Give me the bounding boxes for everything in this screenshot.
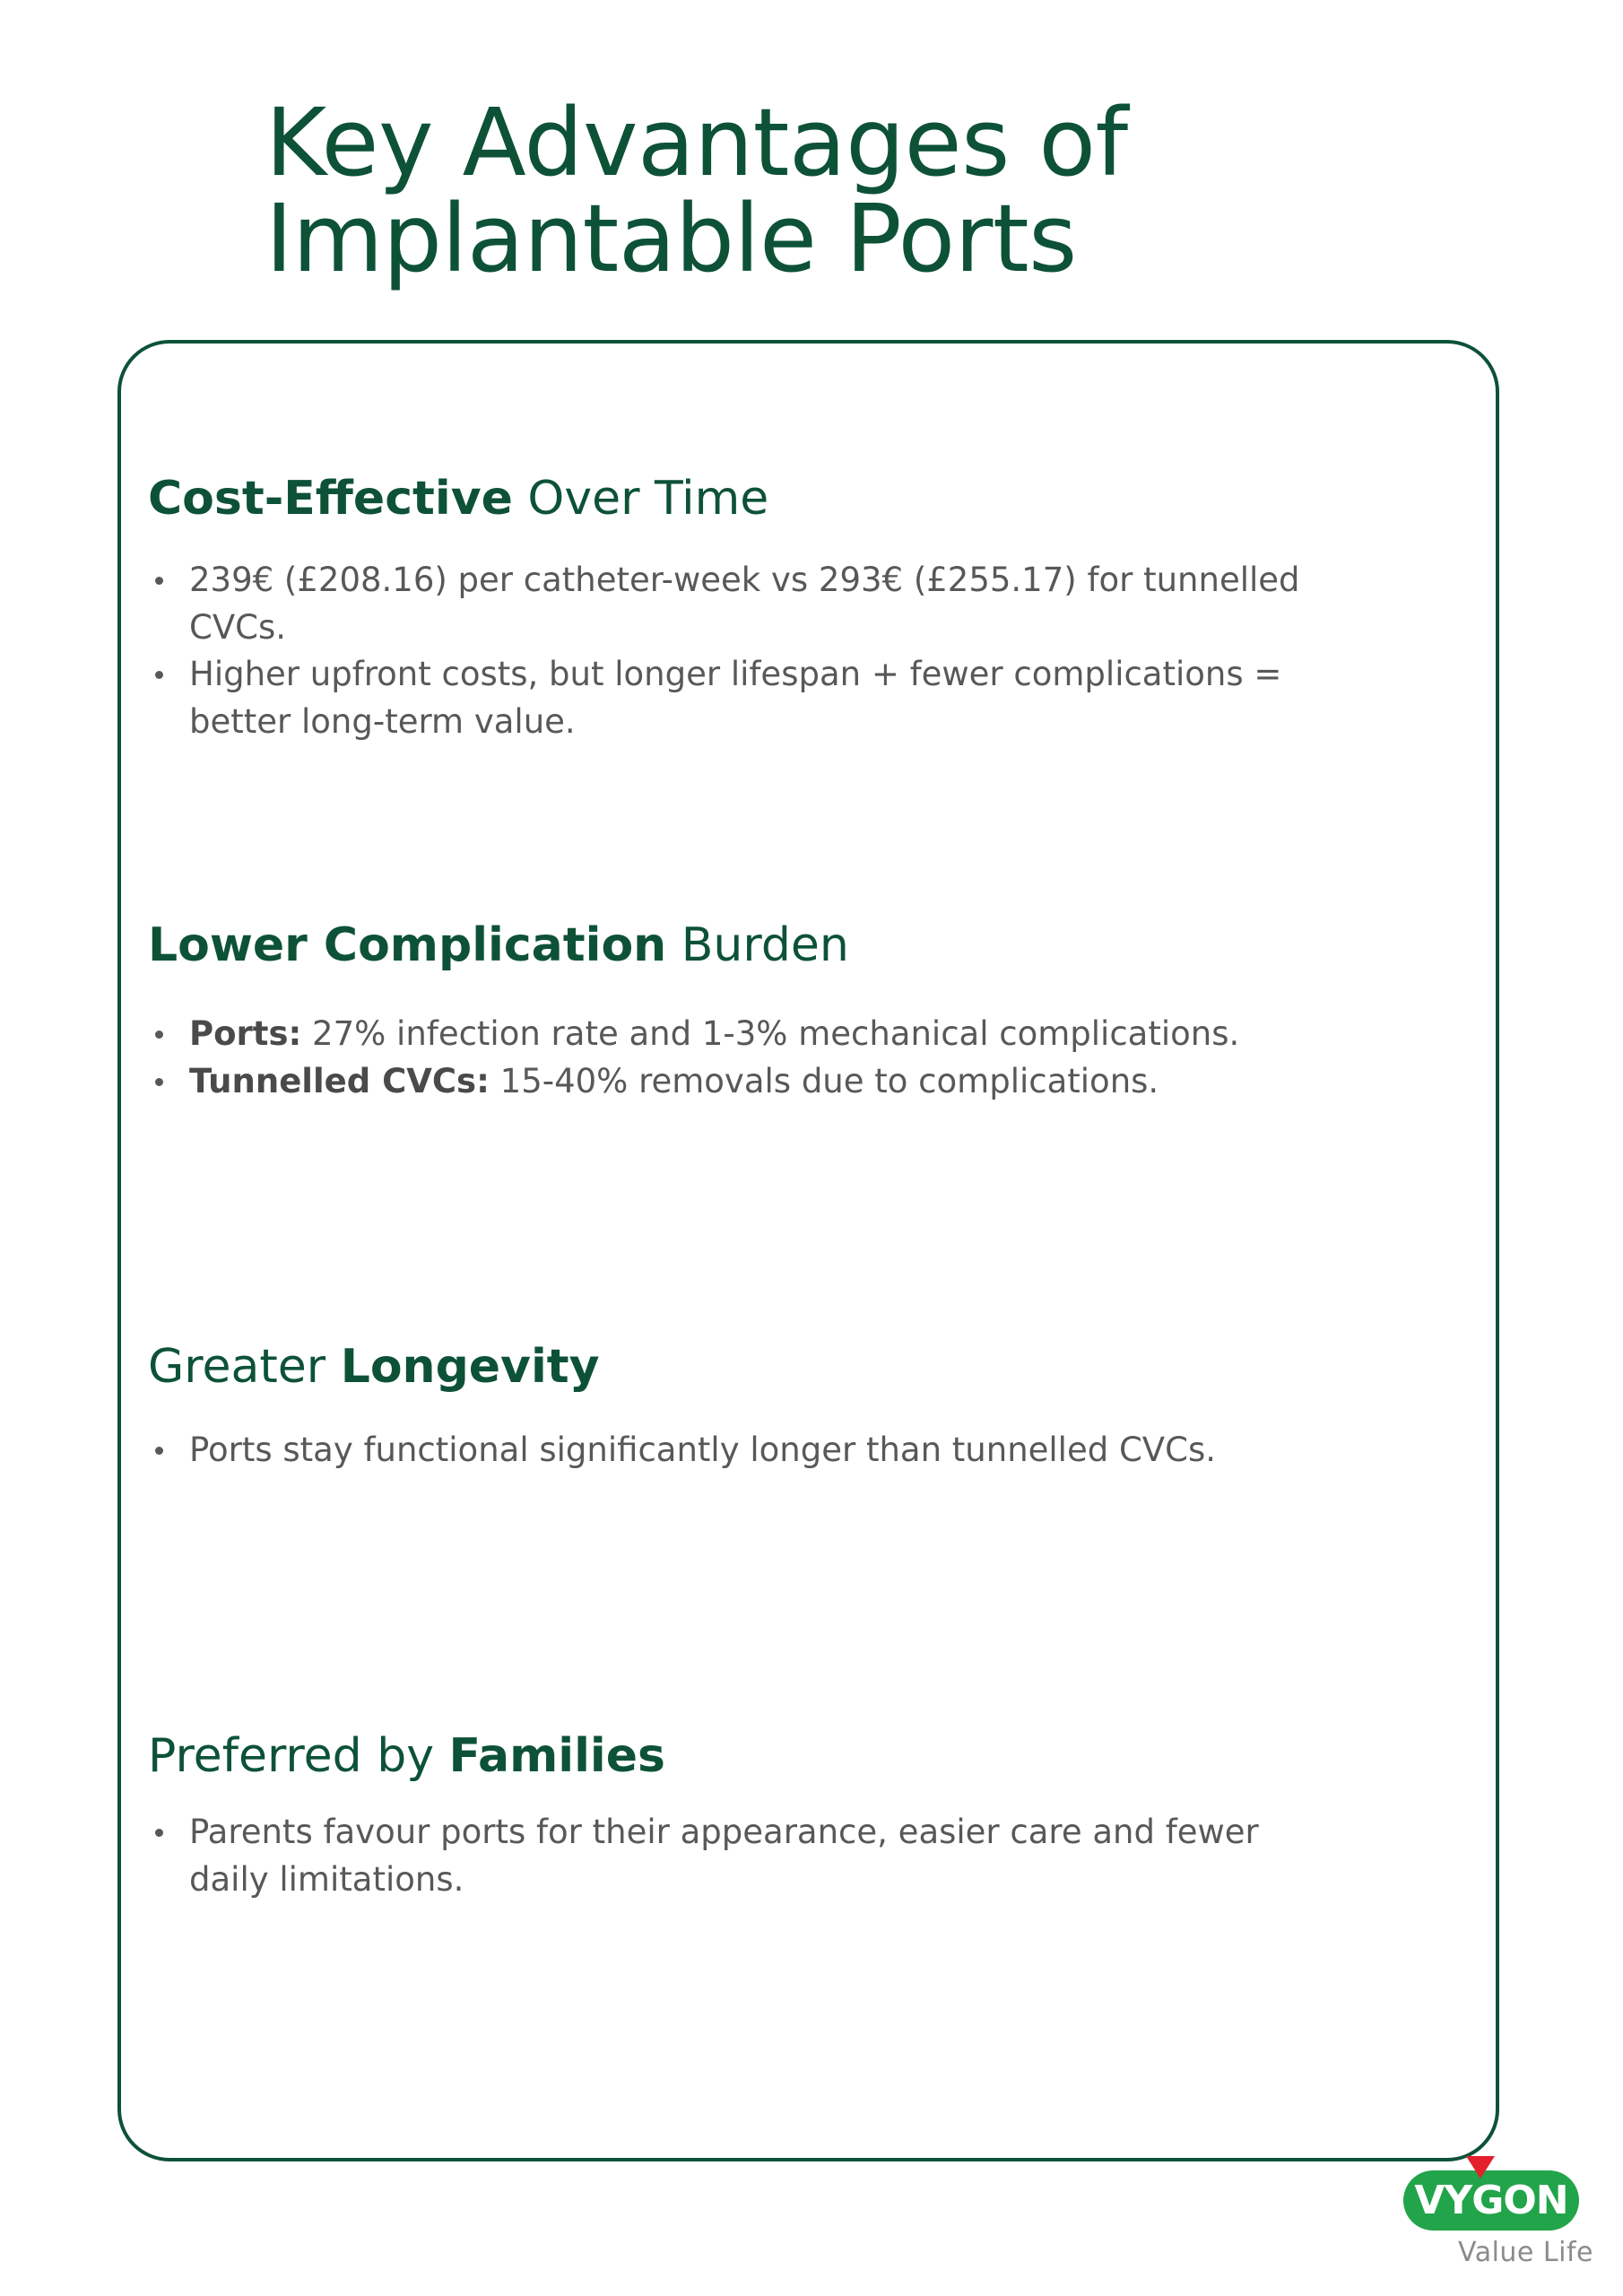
list-item: Higher upfront costs, but longer lifespa… bbox=[148, 651, 1310, 745]
bullet-list: Ports stay functional significantly long… bbox=[148, 1427, 1216, 1474]
section-preferred-by-families: Preferred by Families Parents favour por… bbox=[148, 1731, 1310, 1903]
section-heading-rest: Greater bbox=[148, 1340, 341, 1394]
bullet-list: Ports: 27% infection rate and 1-3% mecha… bbox=[148, 1011, 1239, 1105]
list-item: Ports stay functional significantly long… bbox=[148, 1427, 1216, 1474]
bullet-text: 239€ (£208.16) per catheter-week vs 293€… bbox=[189, 561, 1300, 647]
list-item: Parents favour ports for their appearanc… bbox=[148, 1809, 1310, 1903]
section-heading-rest: Preferred by bbox=[148, 1729, 449, 1783]
section-heading: Lower Complication Burden bbox=[148, 920, 1239, 971]
bullet-list: Parents favour ports for their appearanc… bbox=[148, 1809, 1310, 1903]
section-heading-emphasis: Lower Complication bbox=[148, 918, 666, 972]
logo-pill: VYGON bbox=[1403, 2170, 1579, 2231]
list-item: Ports: 27% infection rate and 1-3% mecha… bbox=[148, 1011, 1239, 1058]
section-heading: Greater Longevity bbox=[148, 1342, 1216, 1393]
bullet-list: 239€ (£208.16) per catheter-week vs 293€… bbox=[148, 557, 1310, 745]
logo-tagline: Value Life bbox=[1393, 2237, 1599, 2268]
section-heading-rest: Burden bbox=[666, 918, 849, 972]
list-item: 239€ (£208.16) per catheter-week vs 293€… bbox=[148, 557, 1310, 651]
page-title: Key Advantages of Implantable Ports bbox=[265, 95, 1431, 287]
section-heading-emphasis: Families bbox=[449, 1729, 665, 1783]
section-heading-emphasis: Cost-Effective bbox=[148, 472, 513, 526]
list-item: Tunnelled CVCs: 15-40% removals due to c… bbox=[148, 1058, 1239, 1106]
bullet-text: Higher upfront costs, but longer lifespa… bbox=[189, 655, 1281, 741]
section-heading-rest: Over Time bbox=[513, 472, 768, 526]
vygon-logo: VYGON Value Life bbox=[1393, 2170, 1599, 2268]
bullet-text: 27% infection rate and 1-3% mechanical c… bbox=[301, 1014, 1239, 1053]
section-lower-complication: Lower Complication Burden Ports: 27% inf… bbox=[148, 920, 1239, 1105]
bullet-text: Parents favour ports for their appearanc… bbox=[189, 1813, 1259, 1899]
triangle-down-icon bbox=[1466, 2156, 1495, 2179]
section-heading-emphasis: Longevity bbox=[341, 1340, 600, 1394]
section-cost-effective: Cost-Effective Over Time 239€ (£208.16) … bbox=[148, 474, 1310, 745]
logo-wordmark: VYGON bbox=[1403, 2181, 1579, 2221]
bullet-text: Ports stay functional significantly long… bbox=[189, 1431, 1216, 1469]
section-heading: Preferred by Families bbox=[148, 1731, 1310, 1782]
bullet-text: 15-40% removals due to complications. bbox=[490, 1062, 1159, 1100]
bullet-lead: Ports: bbox=[189, 1014, 301, 1053]
bullet-lead: Tunnelled CVCs: bbox=[189, 1062, 490, 1100]
section-greater-longevity: Greater Longevity Ports stay functional … bbox=[148, 1342, 1216, 1474]
section-heading: Cost-Effective Over Time bbox=[148, 474, 1310, 525]
